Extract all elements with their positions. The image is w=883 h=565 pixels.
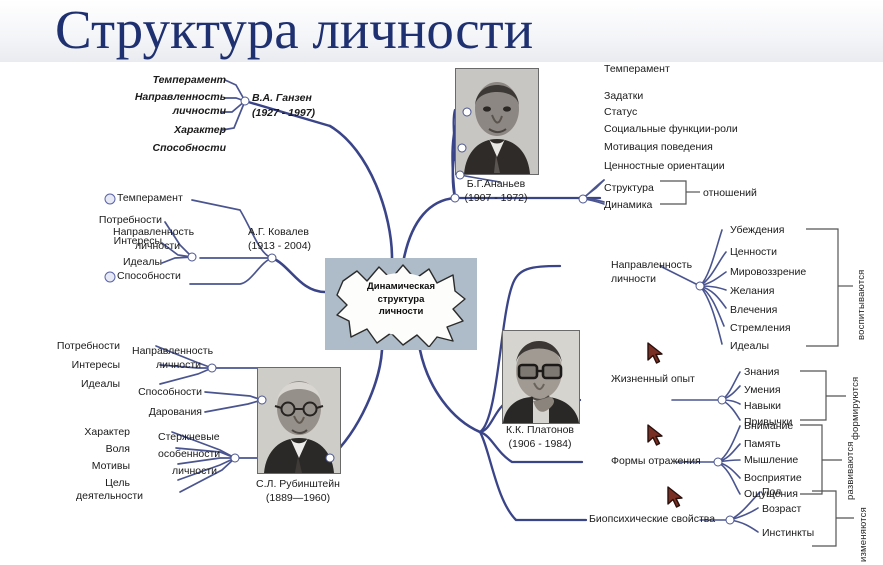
ananiev-item-2-1: Ценностные ориентации bbox=[604, 160, 725, 172]
rubinstein-core-child-2: Мотивы bbox=[92, 460, 130, 472]
ananiev-item-3-1: Динамика bbox=[604, 199, 652, 211]
platonov-sub-2-side-label: развиваются bbox=[845, 420, 856, 500]
platonov-sub-0-item-5: Стремления bbox=[730, 322, 791, 334]
platonov-sub-2-item-3: Восприятие bbox=[744, 472, 802, 484]
portrait-ananiev-image bbox=[456, 69, 538, 174]
platonov-sub-3-item-2: Инстинкты bbox=[762, 527, 814, 539]
rubinstein-orientation-line2: личности bbox=[156, 359, 201, 371]
node-dot-icon bbox=[241, 97, 250, 106]
node-dot-icon bbox=[696, 282, 705, 291]
node-dot-icon bbox=[714, 458, 723, 467]
platonov-sub-2-item-1: Память bbox=[744, 438, 781, 450]
platonov-sub-0-item-0: Убеждения bbox=[730, 224, 784, 236]
node-dot-icon bbox=[718, 396, 727, 405]
portrait-ananiev bbox=[455, 68, 539, 175]
kovalev-author-years: (1913 - 2004) bbox=[248, 240, 311, 252]
rubinstein-abilities: Способности bbox=[138, 386, 202, 398]
rubinstein-author-years: (1889—1960) bbox=[266, 492, 330, 504]
ananiev-item-1-0: Статус bbox=[604, 106, 637, 118]
platonov-sub-0-label-line2: личности bbox=[611, 273, 656, 285]
bullet-dot-icon bbox=[105, 272, 116, 283]
ganzen-author-name: В.А. Ганзен bbox=[252, 92, 312, 104]
platonov-sub-0-item-2: Мировоззрение bbox=[730, 266, 806, 278]
node-dot-icon bbox=[231, 454, 240, 463]
ganzen-item-orientation-line2: личности bbox=[173, 105, 226, 117]
platonov-sub-0-label-line1: Направленность bbox=[611, 259, 692, 271]
ananiev-bracket-label: отношений bbox=[703, 187, 757, 199]
ganzen-item-character: Характер bbox=[174, 124, 226, 136]
ananiev-item-0-1: Задатки bbox=[604, 90, 643, 102]
kovalev-orientation-child-2: Идеалы bbox=[123, 256, 162, 268]
node-dot-icon bbox=[463, 108, 472, 117]
platonov-sub-1-item-0: Знания bbox=[744, 366, 779, 378]
platonov-sub-1-item-1: Умения bbox=[744, 384, 781, 396]
portrait-platonov-image bbox=[503, 331, 579, 423]
rubinstein-core-child-1: Воля bbox=[106, 443, 130, 455]
node-dot-icon bbox=[258, 396, 267, 405]
center-line-3: личности bbox=[341, 306, 461, 319]
bullet-dot-icon bbox=[105, 194, 116, 205]
rubinstein-core-line3: личности bbox=[172, 465, 217, 477]
node-dot-icon bbox=[326, 454, 335, 463]
rubinstein-orientation-child-1: Интересы bbox=[72, 359, 120, 371]
platonov-sub-2-item-2: Мышление bbox=[744, 454, 798, 466]
ananiev-author-name: Б.Г.Ананьев bbox=[467, 178, 525, 190]
node-dot-icon bbox=[188, 253, 197, 262]
mindmap-canvas: Структура личности bbox=[0, 0, 883, 565]
rubinstein-core-line2: особенности bbox=[158, 448, 220, 460]
ganzen-item-orientation-line1: Направленность bbox=[135, 91, 226, 103]
rubinstein-author-name: С.Л. Рубинштейн bbox=[256, 478, 340, 490]
platonov-sub-3-side-label: изменяются bbox=[858, 490, 869, 562]
platonov-sub-1-item-2: Навыки bbox=[744, 400, 781, 412]
platonov-sub-0-item-1: Ценности bbox=[730, 246, 777, 258]
node-dot-icon bbox=[456, 171, 465, 180]
platonov-sub-3-item-0: Пол bbox=[762, 486, 781, 498]
node-dot-icon bbox=[458, 144, 467, 153]
center-line-2: структура bbox=[341, 294, 461, 307]
rubinstein-orientation-line1: Направленность bbox=[132, 345, 213, 357]
platonov-sub-0-item-6: Идеалы bbox=[730, 340, 769, 352]
platonov-author-name: К.К. Платонов bbox=[506, 424, 574, 436]
kovalev-orientation-child-0: Потребности bbox=[99, 214, 162, 226]
platonov-sub-0-side-label: воспитываются bbox=[856, 230, 867, 340]
platonov-sub-0-item-3: Желания bbox=[730, 285, 774, 297]
cursor-arrow-icon bbox=[666, 486, 684, 508]
node-dot-icon bbox=[208, 364, 217, 373]
ananiev-item-0-0: Темперамент bbox=[604, 63, 670, 75]
platonov-sub-2-label: Формы отражения bbox=[611, 455, 701, 467]
ganzen-author-years: (1927 - 1997) bbox=[252, 107, 315, 119]
ananiev-item-2-0: Мотивация поведения bbox=[604, 141, 713, 153]
portrait-platonov bbox=[502, 330, 580, 424]
kovalev-temperament: Темперамент bbox=[117, 192, 183, 204]
ananiev-item-3-0: Структура bbox=[604, 182, 654, 194]
rubinstein-orientation-child-0: Потребности bbox=[57, 340, 120, 352]
kovalev-abilities: Способности bbox=[117, 270, 181, 282]
center-node-text: Динамическая структура личности bbox=[341, 281, 461, 319]
rubinstein-core-line1: Стержневые bbox=[158, 431, 220, 443]
ganzen-item-abilities: Способности bbox=[152, 142, 226, 154]
ananiev-item-1-1: Социальные функции-роли bbox=[604, 123, 738, 135]
node-dot-icon bbox=[579, 195, 588, 204]
platonov-sub-0-item-4: Влечения bbox=[730, 304, 777, 316]
ananiev-author-years: (1907 - 1972) bbox=[464, 192, 527, 204]
platonov-sub-3-label: Биопсихические свойства bbox=[589, 513, 715, 525]
rubinstein-core-child-4: деятельности bbox=[76, 490, 143, 502]
center-line-1: Динамическая bbox=[341, 281, 461, 294]
node-dot-icon bbox=[451, 194, 460, 203]
cursor-arrow-icon bbox=[646, 342, 664, 364]
platonov-sub-3-item-1: Возраст bbox=[762, 503, 801, 515]
cursor-arrow-icon bbox=[646, 424, 664, 446]
rubinstein-core-child-0: Характер bbox=[84, 426, 130, 438]
node-dot-icon bbox=[726, 516, 735, 525]
rubinstein-gifts: Дарования bbox=[149, 406, 202, 418]
ganzen-item-temperament: Темперамент bbox=[153, 74, 226, 86]
kovalev-orientation-child-1: Интересы bbox=[114, 235, 162, 247]
kovalev-author-name: А.Г. Ковалев bbox=[248, 226, 309, 238]
rubinstein-core-child-3: Цель bbox=[105, 477, 130, 489]
platonov-sub-1-label: Жизненный опыт bbox=[611, 373, 695, 385]
platonov-author-years: (1906 - 1984) bbox=[508, 438, 571, 450]
rubinstein-orientation-child-2: Идеалы bbox=[81, 378, 120, 390]
node-dot-icon bbox=[268, 254, 277, 263]
platonov-sub-2-item-0: Внимание bbox=[744, 420, 793, 432]
